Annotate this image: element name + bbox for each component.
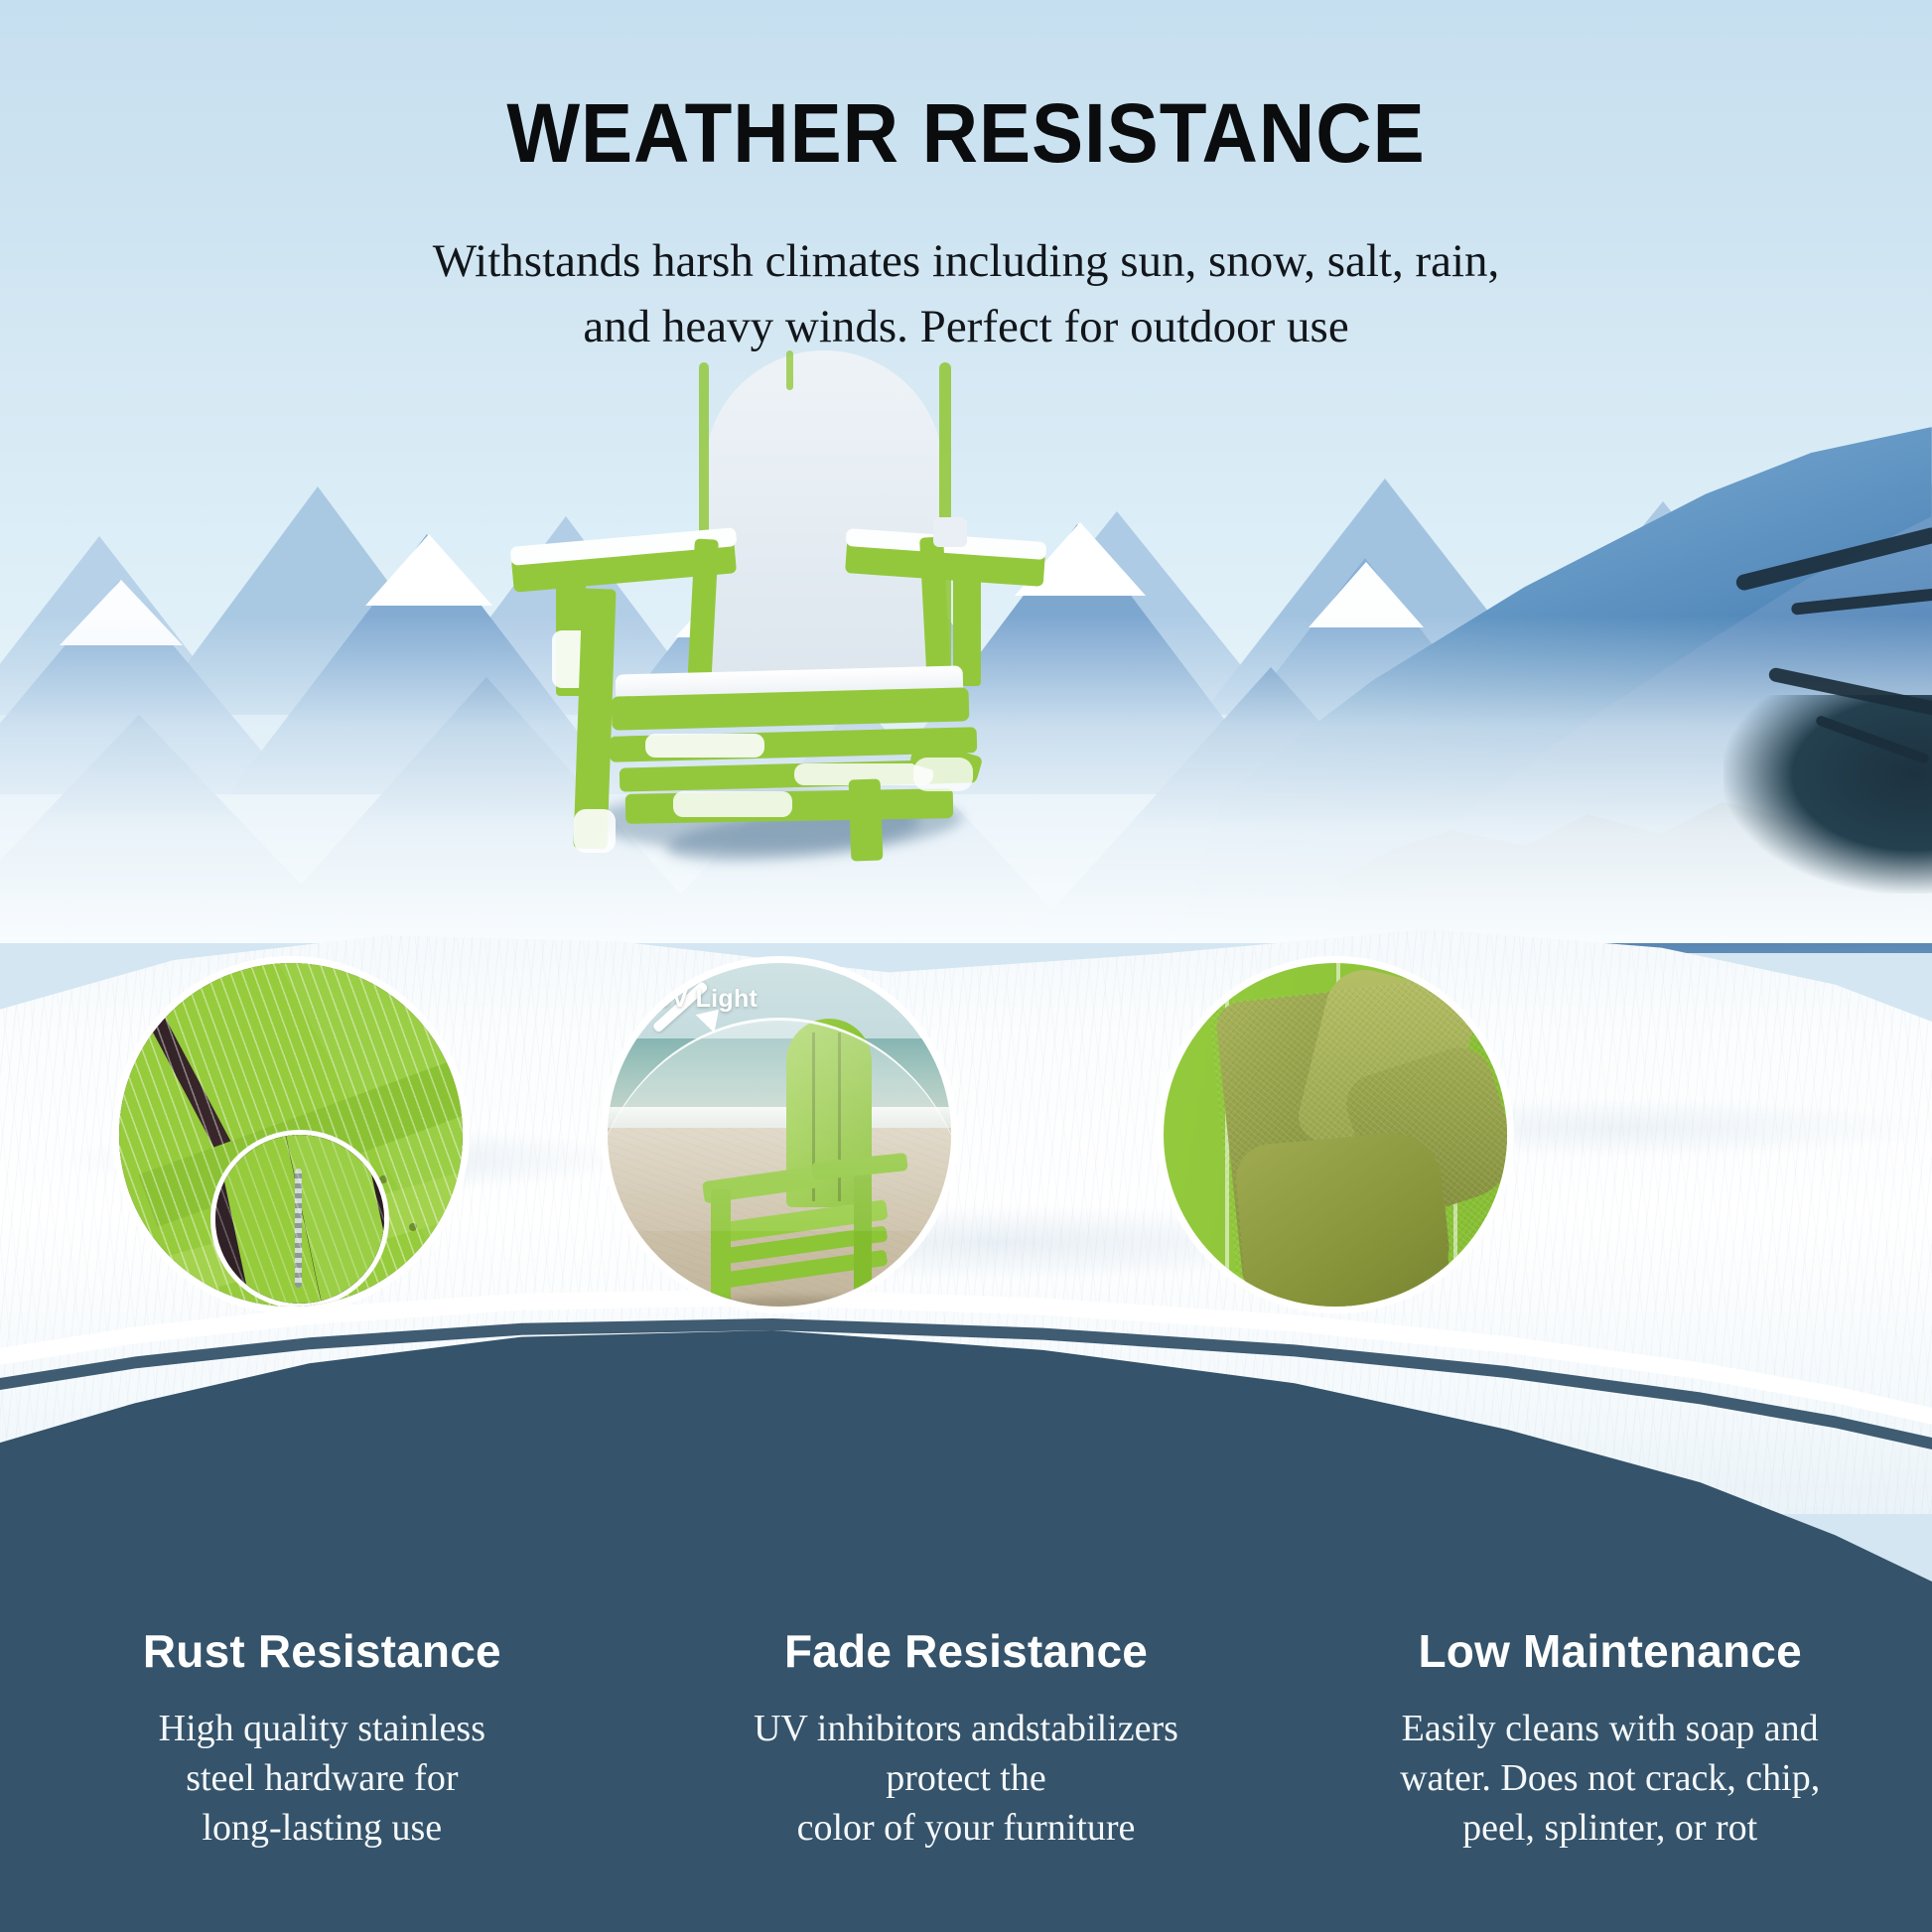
subtitle-line-1: Withstands harsh climates including sun,… (0, 228, 1932, 294)
feature-description: High quality stainless steel hardware fo… (26, 1704, 619, 1853)
feature-description-line: water. Does not crack, chip, (1313, 1753, 1906, 1803)
feature-title: Rust Resistance (26, 1624, 619, 1678)
feature-list: Rust Resistance High quality stainless s… (0, 1624, 1932, 1853)
hero-product-chair (496, 343, 1052, 918)
page-subtitle: Withstands harsh climates including sun,… (0, 228, 1932, 359)
chair-leg-front-right (849, 778, 884, 861)
chair-back-snow (705, 350, 943, 678)
subtitle-line-2: and heavy winds. Perfect for outdoor use (0, 294, 1932, 359)
page-title: WEATHER RESISTANCE (68, 85, 1864, 182)
feature-description-line: Easily cleans with soap and (1313, 1704, 1906, 1753)
feature-column-low-maintenance: Low Maintenance Easily cleans with soap … (1288, 1624, 1932, 1853)
feature-description: Easily cleans with soap and water. Does … (1313, 1704, 1906, 1853)
feature-title: Fade Resistance (670, 1624, 1263, 1678)
hardware-detail-inset (210, 1130, 389, 1309)
chair-leg-snow (913, 758, 973, 791)
feature-description-line: protect the (670, 1753, 1263, 1803)
feature-column-fade-resistance: Fade Resistance UV inhibitors andstabili… (644, 1624, 1289, 1853)
feature-image-rust-resistance (112, 956, 470, 1313)
feature-title: Low Maintenance (1313, 1624, 1906, 1678)
chair-cup-holder (933, 517, 967, 547)
feature-description: UV inhibitors andstabilizers protect the… (670, 1704, 1263, 1853)
chair-leg-snow (574, 809, 616, 853)
infographic-canvas: WEATHER RESISTANCE Withstands harsh clim… (0, 0, 1932, 1932)
feature-description-line: long-lasting use (26, 1803, 619, 1853)
cloth-over-hand (1233, 1129, 1453, 1313)
chair-apron-snow (673, 791, 792, 817)
feature-image-fade-resistance: UV Light (601, 956, 958, 1313)
feature-description-line: UV inhibitors andstabilizers (670, 1704, 1263, 1753)
feature-description-line: peel, splinter, or rot (1313, 1803, 1906, 1853)
feature-image-low-maintenance (1157, 956, 1514, 1313)
feature-description-line: color of your furniture (670, 1803, 1263, 1853)
inset-rain-streaks (210, 1130, 389, 1309)
chair-seat-snow-patch (645, 734, 764, 758)
feature-description-line: High quality stainless (26, 1704, 619, 1753)
uv-light-label: UV Light (653, 985, 758, 1014)
feature-description-line: steel hardware for (26, 1753, 619, 1803)
feature-column-rust-resistance: Rust Resistance High quality stainless s… (0, 1624, 644, 1853)
